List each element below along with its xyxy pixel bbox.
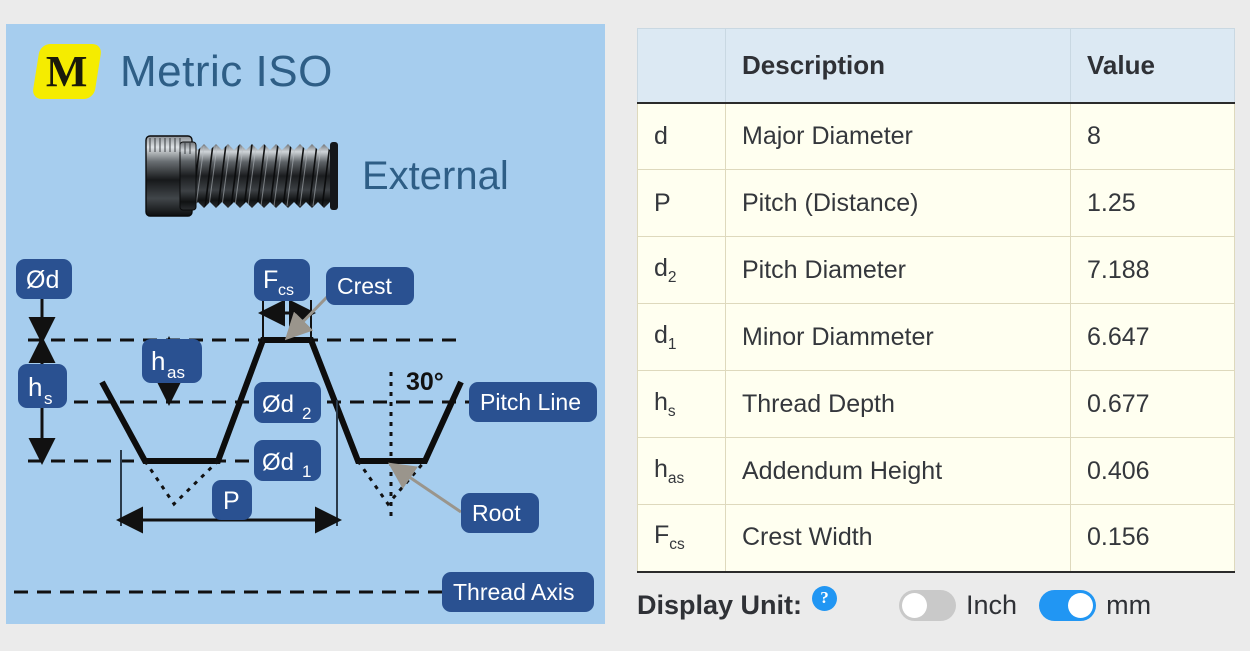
screw-row: External xyxy=(134,132,509,220)
cell-symbol: d1 xyxy=(638,304,726,371)
svg-text:cs: cs xyxy=(278,282,294,299)
svg-text:1: 1 xyxy=(302,462,311,481)
col-description: Description xyxy=(726,29,1071,103)
svg-text:h: h xyxy=(28,372,42,402)
cell-value: 0.156 xyxy=(1071,505,1235,572)
cell-symbol: Fcs xyxy=(638,505,726,572)
cell-description: Pitch (Distance) xyxy=(726,170,1071,237)
toggle-inch[interactable] xyxy=(899,590,956,621)
svg-text:P: P xyxy=(223,487,240,515)
cell-symbol: hs xyxy=(638,371,726,438)
label-thread-axis: Thread Axis xyxy=(442,572,594,612)
toggle-mm-knob xyxy=(1068,593,1093,618)
metric-m-logo-letter: M xyxy=(46,50,88,94)
svg-text:as: as xyxy=(167,363,185,382)
thread-profile-drawing: Ød h s h as F cs Crest xyxy=(6,254,605,624)
label-pitch-line: Pitch Line xyxy=(469,382,597,422)
toggle-inch-knob xyxy=(902,593,927,618)
table-header-row: Description Value xyxy=(638,29,1235,103)
spec-table-panel: Description Value dMajor Diameter8PPitch… xyxy=(637,28,1234,573)
help-icon[interactable]: ? xyxy=(812,586,837,611)
cell-symbol: d2 xyxy=(638,237,726,304)
svg-text:Ød: Ød xyxy=(262,391,294,418)
standard-title: Metric ISO xyxy=(120,47,333,97)
svg-text:Crest: Crest xyxy=(337,273,393,299)
svg-text:Ød: Ød xyxy=(262,449,294,476)
svg-text:h: h xyxy=(151,346,165,376)
cell-description: Major Diameter xyxy=(726,103,1071,170)
label-major-diameter: Ød xyxy=(16,259,72,299)
col-symbol xyxy=(638,29,726,103)
cell-symbol: has xyxy=(638,438,726,505)
cell-value: 1.25 xyxy=(1071,170,1235,237)
cell-description: Pitch Diameter xyxy=(726,237,1071,304)
table-row: PPitch (Distance)1.25 xyxy=(638,170,1235,237)
svg-text:F: F xyxy=(263,266,278,294)
svg-text:Thread Axis: Thread Axis xyxy=(453,579,574,605)
table-row: hasAddendum Height0.406 xyxy=(638,438,1235,505)
cell-description: Thread Depth xyxy=(726,371,1071,438)
label-root: Root xyxy=(461,493,539,533)
toggle-mm[interactable] xyxy=(1039,590,1096,621)
cell-description: Addendum Height xyxy=(726,438,1071,505)
thread-diagram-panel: M Metric ISO xyxy=(6,24,605,624)
cell-value: 8 xyxy=(1071,103,1235,170)
cell-symbol: d xyxy=(638,103,726,170)
thread-spec-table: Description Value dMajor Diameter8PPitch… xyxy=(637,28,1235,573)
label-pitch-diameter: Ød 2 xyxy=(254,382,321,423)
label-addendum-height: h as xyxy=(142,339,202,383)
screw-icon xyxy=(134,132,344,220)
cell-value: 0.677 xyxy=(1071,371,1235,438)
svg-text:Ød: Ød xyxy=(26,266,59,294)
display-unit-label: Display Unit: xyxy=(637,590,802,621)
label-crest-width: F cs xyxy=(254,259,310,301)
label-thread-angle: 30° xyxy=(406,368,444,396)
table-row: d2Pitch Diameter7.188 xyxy=(638,237,1235,304)
page-root: M Metric ISO xyxy=(0,0,1250,651)
unit-label-mm[interactable]: mm xyxy=(1106,590,1151,621)
label-thread-depth: h s xyxy=(18,364,67,408)
svg-text:Root: Root xyxy=(472,500,521,526)
label-pitch: P xyxy=(212,480,252,520)
display-unit-row: Display Unit: ? Inch mm xyxy=(637,582,1151,628)
label-crest: Crest xyxy=(326,267,414,305)
table-row: FcsCrest Width0.156 xyxy=(638,505,1235,572)
table-row: hsThread Depth0.677 xyxy=(638,371,1235,438)
table-row: d1Minor Diammeter6.647 xyxy=(638,304,1235,371)
col-value: Value xyxy=(1071,29,1235,103)
svg-text:s: s xyxy=(44,389,53,408)
svg-text:2: 2 xyxy=(302,404,311,423)
cell-symbol: P xyxy=(638,170,726,237)
cell-value: 0.406 xyxy=(1071,438,1235,505)
cell-value: 6.647 xyxy=(1071,304,1235,371)
cell-description: Minor Diammeter xyxy=(726,304,1071,371)
unit-label-inch[interactable]: Inch xyxy=(966,590,1017,621)
brand-row: M Metric ISO xyxy=(36,44,333,99)
cell-description: Crest Width xyxy=(726,505,1071,572)
cell-value: 7.188 xyxy=(1071,237,1235,304)
table-row: dMajor Diameter8 xyxy=(638,103,1235,170)
thread-type-label: External xyxy=(362,154,509,199)
svg-text:Pitch Line: Pitch Line xyxy=(480,389,581,415)
label-minor-diameter: Ød 1 xyxy=(254,440,321,481)
metric-m-logo: M xyxy=(32,44,103,99)
